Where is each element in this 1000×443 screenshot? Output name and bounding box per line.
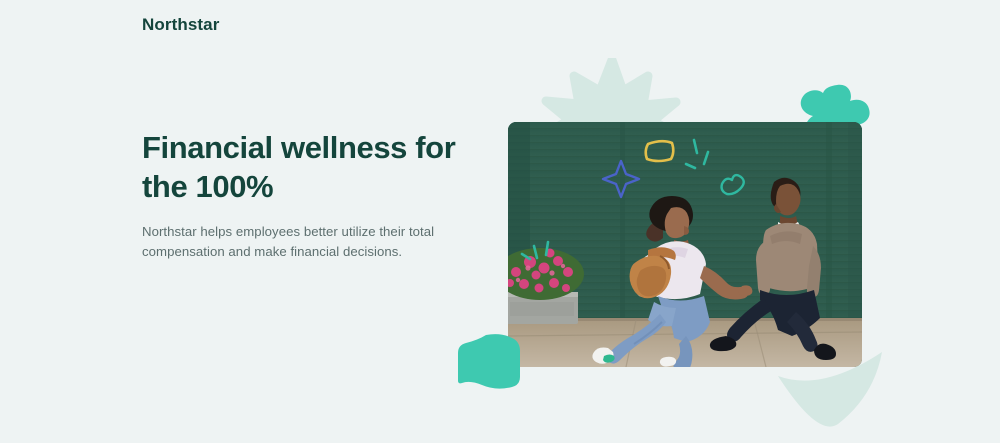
flower-planter: [508, 248, 584, 324]
sparkle-decoration-bottom-right: [778, 352, 888, 434]
hero-subcopy: Northstar helps employees better utilize…: [142, 222, 472, 261]
hero-copy: Financial wellness for the 100% Northsta…: [142, 128, 472, 261]
hero-photo: [508, 122, 862, 367]
ribbon-decoration-bottom-left: [458, 333, 526, 389]
hero-page: Northstar: [0, 0, 1000, 443]
page-title: Financial wellness for the 100%: [142, 128, 472, 206]
northstar-logo[interactable]: Northstar: [142, 15, 219, 35]
